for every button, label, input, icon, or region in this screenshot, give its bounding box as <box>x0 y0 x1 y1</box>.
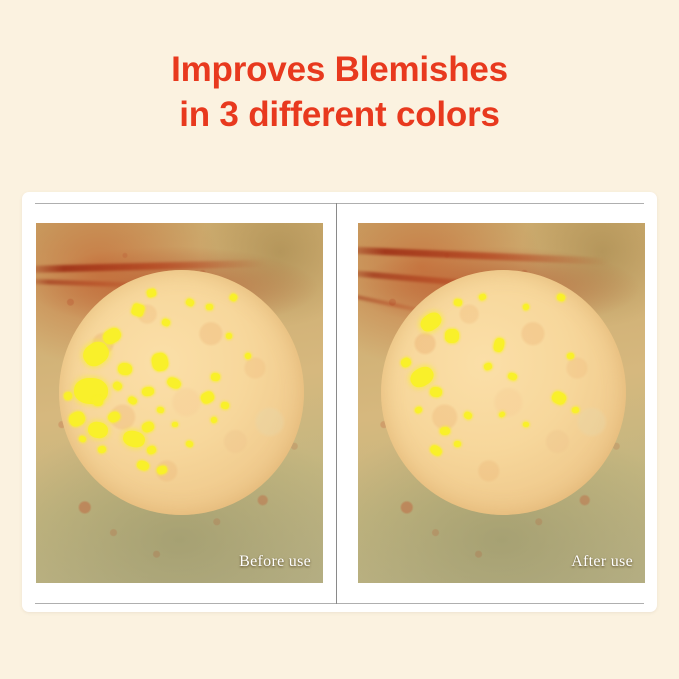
blemish-spot <box>220 402 229 410</box>
page-title-line-2: in 3 different colors <box>0 93 679 138</box>
page-title-line-1: Improves Blemishes <box>0 48 679 93</box>
blemish-spot <box>211 372 221 381</box>
after-photo-panel: After use <box>358 223 645 583</box>
lens-mottle-after <box>381 270 626 515</box>
blemish-spot <box>206 304 213 310</box>
comparison-card: Before use After use <box>22 192 657 612</box>
blemish-spot <box>444 328 458 342</box>
blemish-spot <box>225 333 231 339</box>
blemish-spot <box>440 426 450 435</box>
magnified-skin-circle-after <box>381 270 626 515</box>
blemish-spot <box>523 421 529 427</box>
card-rule-top <box>35 203 644 204</box>
blemish-spot <box>117 362 132 375</box>
before-caption: Before use <box>239 553 311 571</box>
after-caption: After use <box>571 553 633 571</box>
magnified-skin-circle-before <box>59 270 304 515</box>
before-photo-panel: Before use <box>36 223 323 583</box>
blemish-spot <box>171 421 177 426</box>
page-title: Improves Blemishes in 3 different colors <box>0 48 679 138</box>
card-rule-bottom <box>35 603 644 604</box>
blemish-spot <box>93 397 103 406</box>
card-vertical-divider <box>336 203 337 604</box>
